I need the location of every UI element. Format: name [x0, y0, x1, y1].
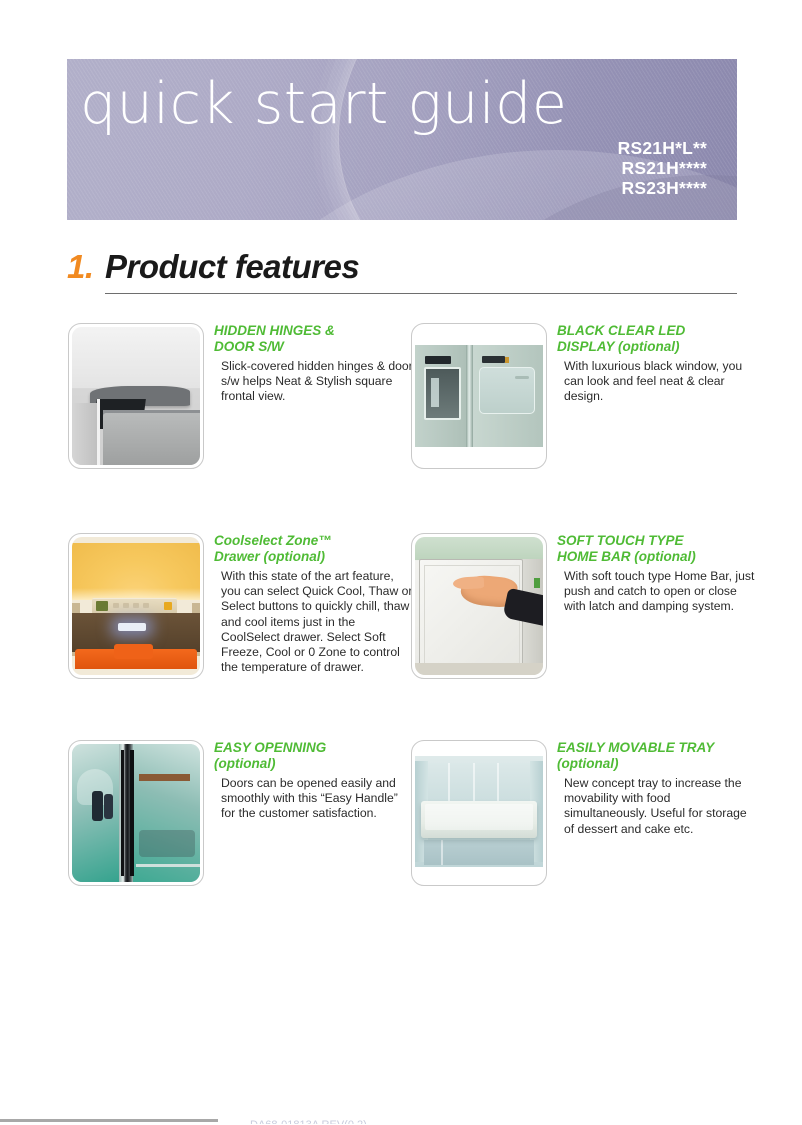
coolselect-zone-drawer-text: Coolselect Zone™ Drawer (optional) With … [214, 533, 413, 675]
easy-openning-photo-inner [72, 744, 200, 882]
hidden-hinges-text: HIDDEN HINGES & DOOR S/W Slick-covered h… [214, 323, 413, 405]
led-display-illustration [415, 327, 543, 465]
page-footer: DA68-01813A REV(0.2) [0, 1114, 802, 1125]
movable-tray-illustration [415, 744, 543, 882]
hidden-hinges-photo-inner [72, 327, 200, 465]
easy-openning-photo [68, 740, 204, 886]
feature-title: EASILY MOVABLE TRAY (optional) [557, 740, 756, 772]
coolselect-photo-inner [72, 537, 200, 675]
feature-title-line-2: Drawer (optional) [214, 549, 413, 565]
feature-title: HIDDEN HINGES & DOOR S/W [214, 323, 413, 355]
soft-touch-home-bar-text: SOFT TOUCH TYPE HOME BAR (optional) With… [557, 533, 756, 615]
feature-title: Coolselect Zone™ Drawer (optional) [214, 533, 413, 565]
feature-body: New concept tray to increase the movabil… [564, 776, 756, 837]
feature-title: EASY OPENNING (optional) [214, 740, 413, 772]
easily-movable-tray-photo [411, 740, 547, 886]
black-clear-led-display-photo [411, 323, 547, 469]
coolselect-zone-drawer-photo [68, 533, 204, 679]
feature-title-line-1: Coolselect Zone™ [214, 533, 413, 549]
soft-touch-home-bar-photo [411, 533, 547, 679]
feature-title-line-2: (optional) [557, 756, 756, 772]
feature-title-line-2: (optional) [214, 756, 413, 772]
feature-body: Slick-covered hidden hinges & door s/w h… [221, 359, 413, 405]
feature-body: With soft touch type Home Bar, just push… [564, 569, 756, 615]
feature-body: Doors can be opened easily and smoothly … [221, 776, 413, 822]
feature-body: With this state of the art feature, you … [221, 569, 413, 675]
feature-title-line-1: HIDDEN HINGES & [214, 323, 413, 339]
feature-title-line-2: DISPLAY (optional) [557, 339, 756, 355]
feature-title-line-2: HOME BAR (optional) [557, 549, 756, 565]
home-bar-illustration [415, 537, 543, 675]
easy-openning-text: EASY OPENNING (optional) Doors can be op… [214, 740, 413, 822]
hidden-hinges-photo [68, 323, 204, 469]
footer-divider [0, 1119, 218, 1122]
easily-movable-tray-text: EASILY MOVABLE TRAY (optional) New conce… [557, 740, 756, 837]
feature-list: HIDDEN HINGES & DOOR S/W Slick-covered h… [0, 0, 802, 1125]
feature-title-line-1: SOFT TOUCH TYPE [557, 533, 756, 549]
easy-openning-illustration [72, 744, 200, 882]
coolselect-illustration [72, 537, 200, 675]
feature-title-line-1: EASILY MOVABLE TRAY [557, 740, 756, 756]
feature-body: With luxurious black window, you can loo… [564, 359, 756, 405]
feature-title: BLACK CLEAR LED DISPLAY (optional) [557, 323, 756, 355]
footer-code: DA68-01813A REV(0.2) [250, 1115, 367, 1124]
home-bar-photo-inner [415, 537, 543, 675]
black-clear-led-display-text: BLACK CLEAR LED DISPLAY (optional) With … [557, 323, 756, 405]
quick-start-guide-page: { "banner": { "title": "quick start guid… [0, 0, 802, 1125]
led-display-photo-inner [415, 327, 543, 465]
feature-title-line-1: BLACK CLEAR LED [557, 323, 756, 339]
hinge-illustration [72, 327, 200, 465]
feature-title: SOFT TOUCH TYPE HOME BAR (optional) [557, 533, 756, 565]
feature-title-line-1: EASY OPENNING [214, 740, 413, 756]
movable-tray-photo-inner [415, 744, 543, 882]
feature-title-line-2: DOOR S/W [214, 339, 413, 355]
